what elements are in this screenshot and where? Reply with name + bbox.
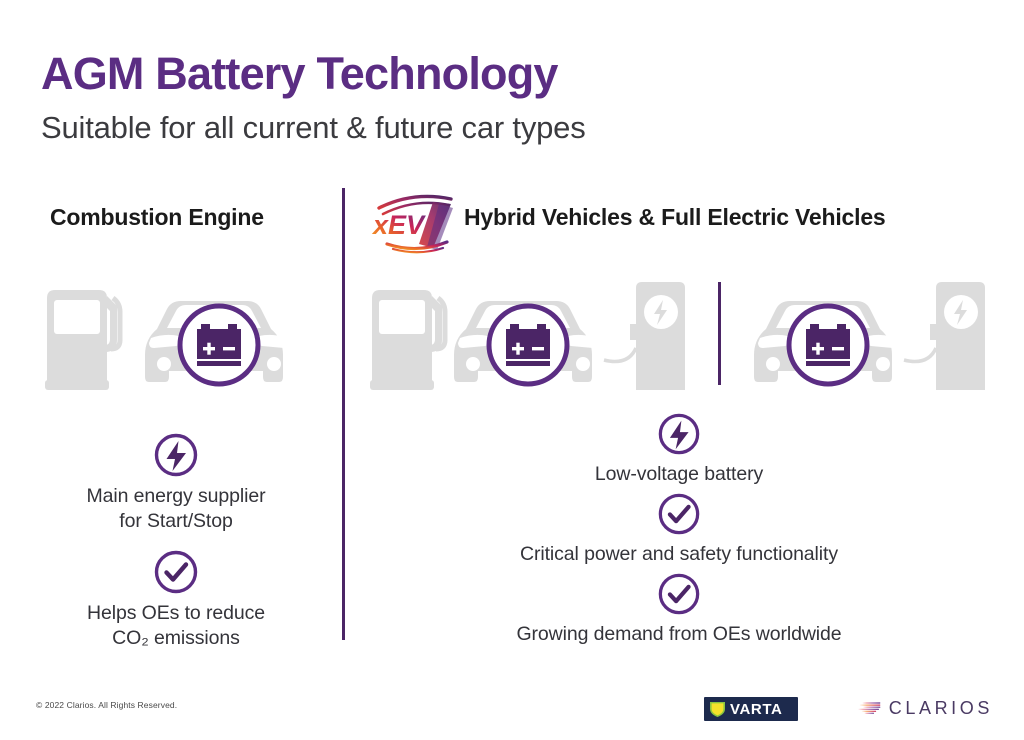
feature-label: Main energy supplier for Start/Stop	[46, 484, 306, 534]
infographic-page: AGM Battery Technology Suitable for all …	[0, 0, 1024, 740]
page-title: AGM Battery Technology	[41, 50, 558, 97]
feature-label: Growing demand from OEs worldwide	[400, 622, 958, 647]
check-icon	[657, 572, 701, 616]
varta-logo: VARTA	[704, 697, 798, 721]
vehicle-divider-vertical	[718, 282, 721, 385]
illustration-electric-vehicle	[740, 276, 985, 392]
fuel-pump-icon	[45, 290, 120, 390]
feature-label: Helps OEs to reduce CO₂ emissions	[46, 601, 306, 651]
feature-label: Low-voltage battery	[440, 462, 918, 487]
feature-combustion-0: Main energy supplier for Start/Stop	[46, 432, 306, 534]
lightning-icon	[153, 432, 199, 478]
clarios-logo: CLARIOS	[858, 694, 993, 722]
varta-shield-icon	[709, 701, 726, 718]
check-icon	[657, 492, 701, 536]
illustration-hybrid-vehicle	[370, 276, 685, 392]
clarios-mark-icon	[858, 697, 882, 719]
illustration-combustion-engine	[45, 276, 320, 392]
lightning-icon	[657, 412, 701, 456]
battery-badge-icon	[180, 306, 258, 384]
feature-xev-1: Critical power and safety functionality	[400, 492, 958, 567]
varta-label: VARTA	[730, 702, 782, 717]
feature-xev-2: Growing demand from OEs worldwide	[400, 572, 958, 647]
svg-text:xEV: xEV	[371, 210, 426, 240]
charging-cable-icon	[604, 348, 636, 362]
page-subtitle: Suitable for all current & future car ty…	[41, 110, 586, 146]
feature-label: Critical power and safety functionality	[400, 542, 958, 567]
xev-logo-icon: xEV	[367, 192, 459, 254]
charging-cable-icon	[904, 348, 936, 362]
copyright-text: © 2022 Clarios. All Rights Reserved.	[36, 700, 177, 710]
section-heading-xev: Hybrid Vehicles & Full Electric Vehicles	[464, 204, 886, 231]
clarios-label: CLARIOS	[889, 699, 993, 717]
feature-combustion-1: Helps OEs to reduce CO₂ emissions	[46, 549, 306, 651]
fuel-pump-icon	[370, 290, 445, 390]
charging-station-icon	[630, 282, 685, 390]
battery-badge-icon	[789, 306, 867, 384]
charging-station-icon	[930, 282, 985, 390]
check-icon	[153, 549, 199, 595]
section-heading-combustion: Combustion Engine	[50, 204, 264, 231]
battery-badge-icon	[489, 306, 567, 384]
feature-xev-0: Low-voltage battery	[440, 412, 918, 487]
section-divider-vertical	[342, 188, 345, 640]
